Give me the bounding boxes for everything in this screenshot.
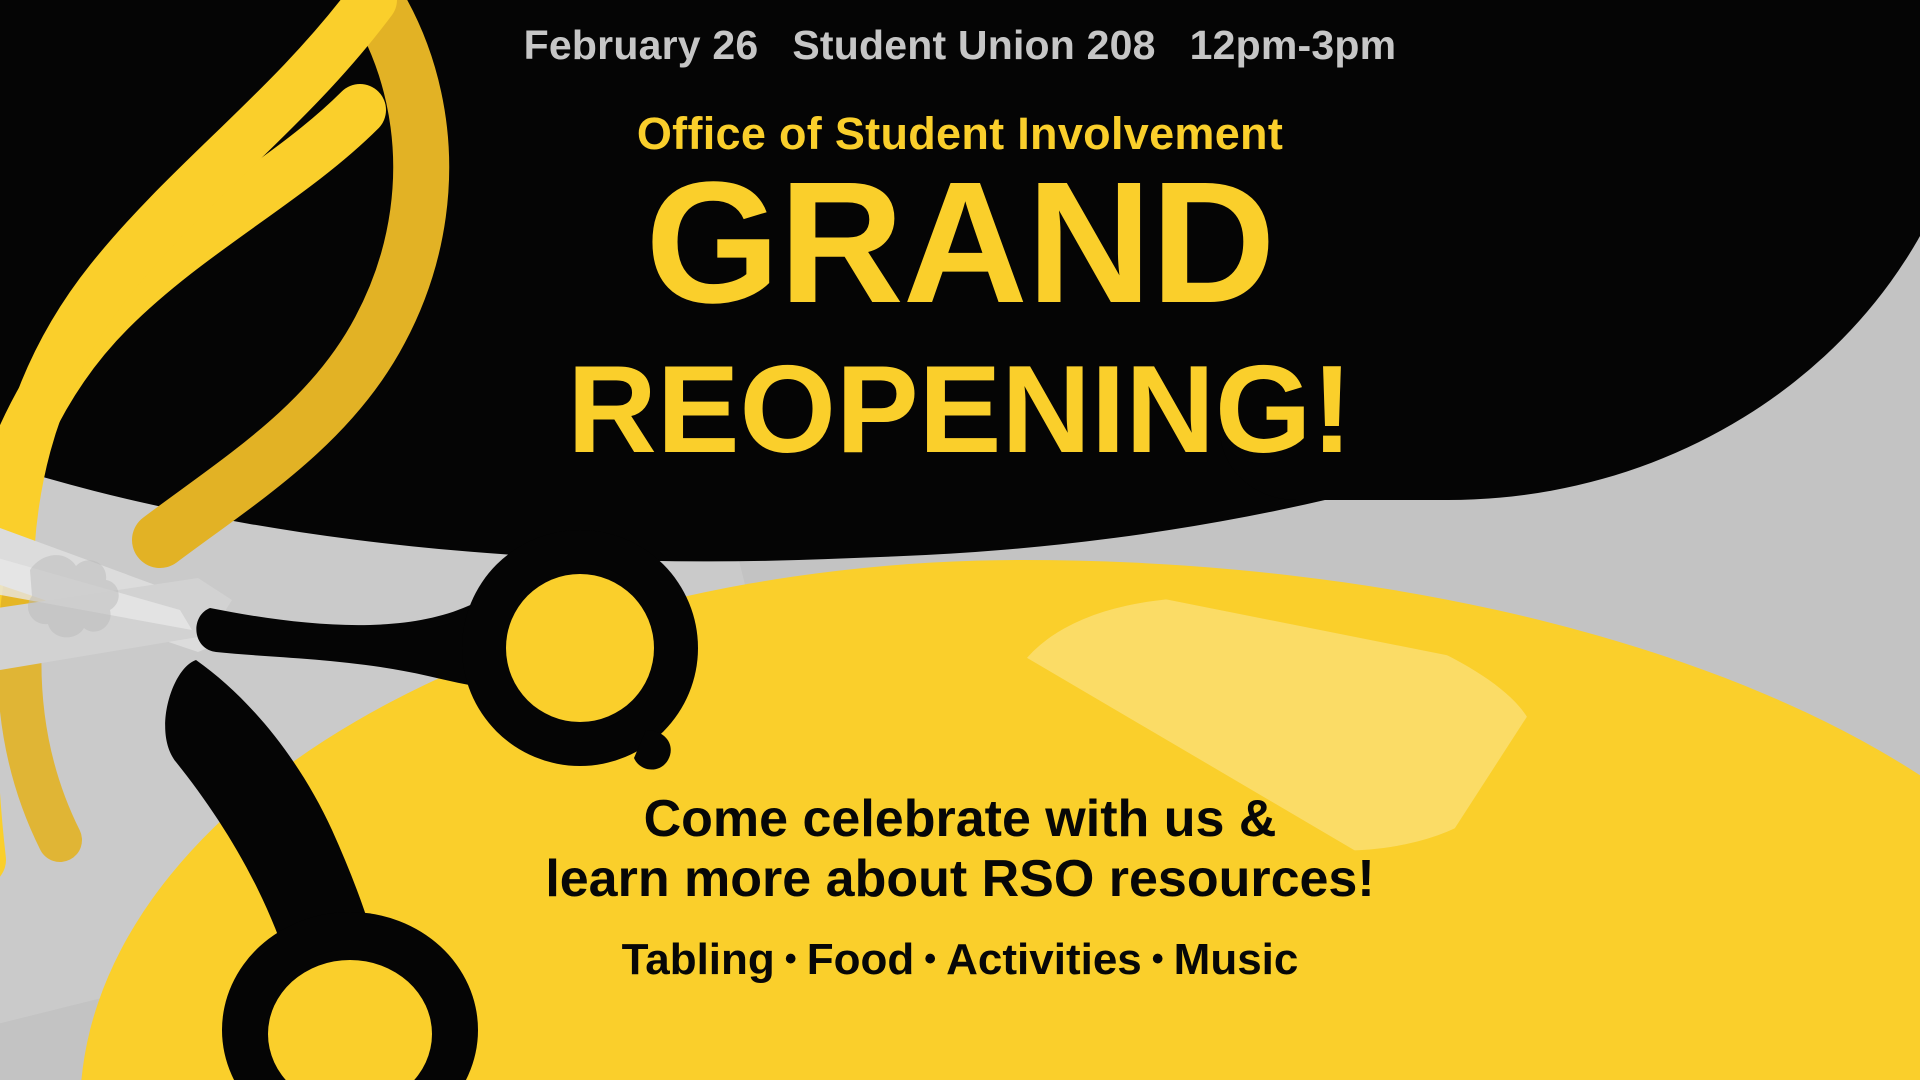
scissors-graphic xyxy=(0,430,700,1080)
poster-canvas: February 26Student Union 20812pm-3pm Off… xyxy=(0,0,1920,1080)
